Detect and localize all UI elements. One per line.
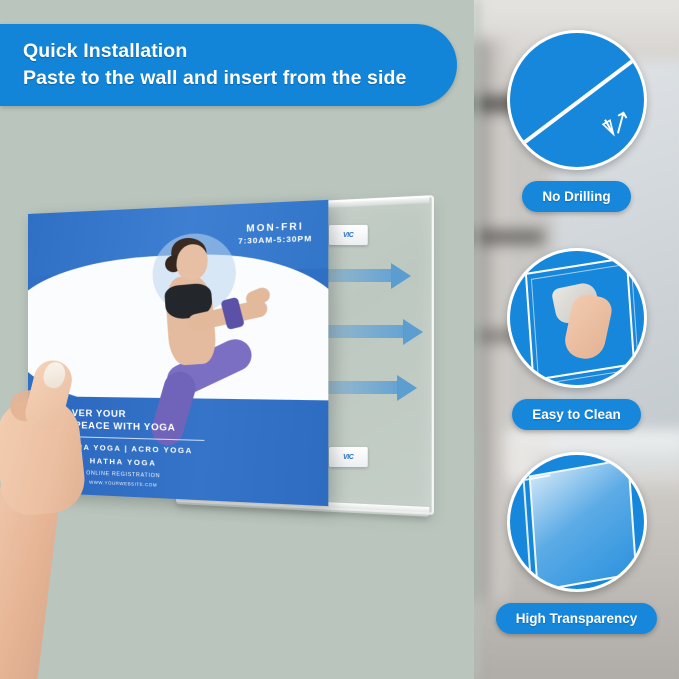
arrow-head: [397, 375, 417, 401]
adhesive-tab-bottom: VIC: [329, 447, 368, 467]
adhesive-tab-bottom-logo: VIC: [343, 453, 353, 460]
product-scene: VIC VIC: [0, 150, 474, 679]
arrow-head: [403, 319, 423, 345]
drill-bit-icon: ⍒↗: [598, 109, 632, 144]
adhesive-tab-top-logo: VIC: [343, 231, 353, 238]
figure-yoga-strap: [220, 297, 244, 330]
adhesive-tab-top: VIC: [329, 225, 368, 245]
office-background-photo: ⍒↗ No Drilling Easy to Clean High Transp…: [474, 0, 679, 679]
transparent-acrylic-panel-icon: [507, 452, 647, 592]
no-drilling-icon: ⍒↗: [507, 30, 647, 170]
banner-headline: Quick Installation: [23, 38, 457, 65]
feature-label-easy-to-clean: Easy to Clean: [512, 399, 641, 430]
poster-schedule: MON-FRI 7:30AM-5:30PM: [238, 220, 312, 246]
arrow-head: [391, 263, 411, 289]
hand-wiping-cloth-icon: [507, 248, 647, 388]
header-banner: Quick Installation Paste to the wall and…: [0, 24, 457, 106]
banner-subheadline: Paste to the wall and insert from the si…: [23, 65, 457, 92]
feature-easy-to-clean: Easy to Clean: [474, 248, 679, 430]
photo-beam-middle: [474, 230, 544, 244]
hand-inserting-poster: [0, 350, 146, 679]
feature-no-drilling: ⍒↗ No Drilling: [474, 30, 679, 212]
feature-label-high-transparency: High Transparency: [496, 603, 658, 634]
product-feature-image: ⍒↗ No Drilling Easy to Clean High Transp…: [0, 0, 679, 679]
schedule-days: MON-FRI: [238, 220, 312, 234]
feature-high-transparency: High Transparency: [474, 452, 679, 634]
feature-label-no-drilling: No Drilling: [522, 181, 630, 212]
